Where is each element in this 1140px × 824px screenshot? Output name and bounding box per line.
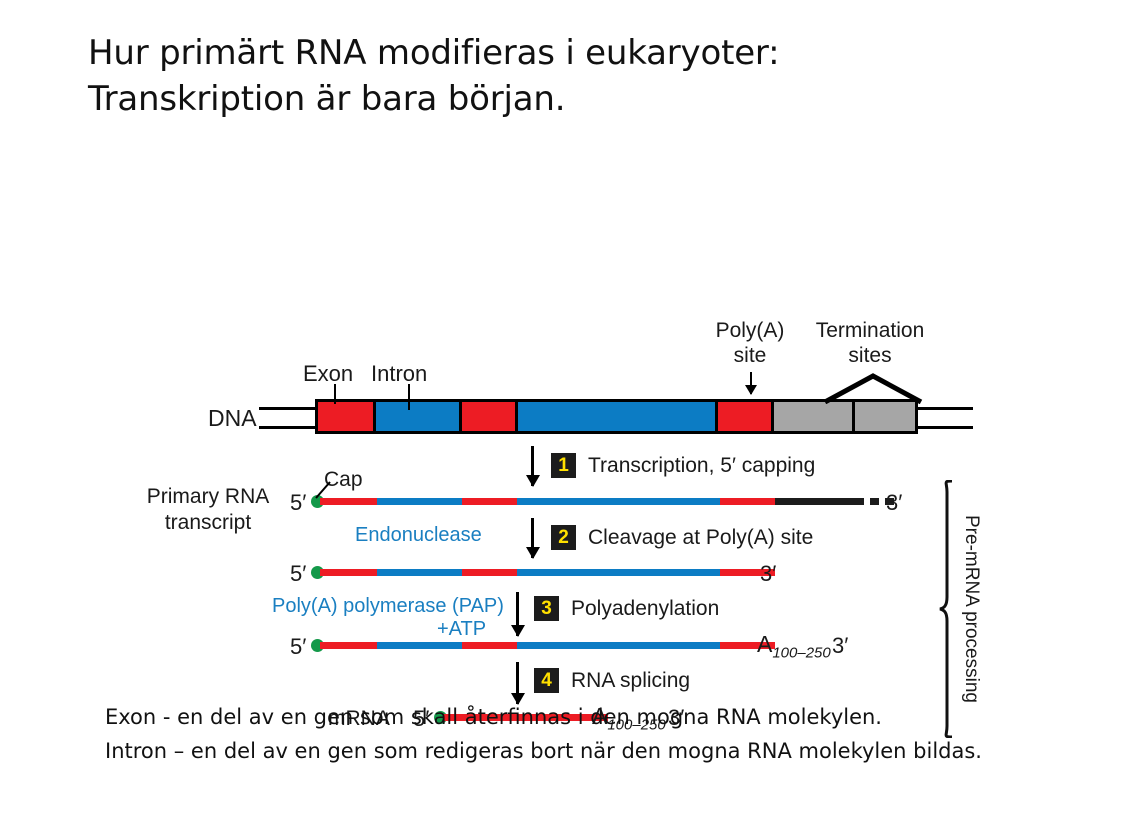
strand-0-segment-exon-5 (720, 498, 775, 505)
termination-label-line-1: Termination (816, 319, 925, 342)
polyadenylated-tail-a: A (757, 631, 772, 657)
dna-segment-termination-7 (852, 402, 915, 431)
polya-site-label: Poly(A) site (700, 318, 800, 368)
strand-0-segment-intron-2 (377, 498, 462, 505)
intron-leader-line (408, 384, 410, 410)
dna-flank-right-bottom (915, 426, 973, 429)
title-line-1: Hur primärt RNA modifieras i eukaryoter: (88, 30, 988, 76)
dna-segment-exon-5 (715, 402, 771, 431)
cleaved-transcript-5prime: 5′ (290, 561, 306, 587)
step-3-badge: 3 (534, 596, 559, 621)
step-2-enzyme-label: Endonuclease (355, 524, 482, 547)
strand-0-segment-exon-3 (462, 498, 517, 505)
transcript-dash (870, 498, 879, 505)
strand-1-segment-intron-2 (377, 569, 462, 576)
polyadenylated-tail-label: A100–250 (757, 631, 831, 662)
primary-transcript-label: Primary RNA transcript (133, 484, 283, 536)
strand-1-segment-exon-1 (320, 569, 377, 576)
dna-label: DNA (208, 405, 257, 432)
polya-site-label-line-2: site (734, 344, 767, 367)
dna-segment-termination-6 (771, 402, 852, 431)
step-3-enzyme-label-line-2: +ATP (437, 618, 486, 641)
termination-roof-icon (822, 372, 924, 404)
primary-transcript-5prime: 5′ (290, 490, 306, 516)
dna-flank-left-top (259, 407, 317, 410)
caption-line-intron: Intron – en del av en gen som redigeras … (105, 734, 1065, 768)
polyadenylated-5prime: 5′ (290, 634, 306, 660)
step-3-enzyme-label-line-1: Poly(A) polymerase (PAP) (272, 595, 504, 618)
strand-1-segment-intron-4 (517, 569, 720, 576)
cap-leader-line (314, 480, 334, 500)
cleaved-transcript-strand (320, 569, 775, 576)
step-1-arrow-icon (531, 446, 534, 486)
intron-label: Intron (371, 361, 427, 387)
caption: Exon - en del av en gen som skall återfi… (105, 700, 1065, 768)
step-2-arrow-icon (531, 518, 534, 558)
title-line-2: Transkription är bara början. (88, 76, 988, 122)
step-1-text: Transcription, 5′ capping (588, 454, 815, 478)
step-2-badge: 2 (551, 525, 576, 550)
dna-segment-exon-3 (459, 402, 515, 431)
cleaved-transcript-3prime: 3′ (760, 561, 776, 587)
strand-0-segment-exon-1 (320, 498, 377, 505)
dna-flank-right-top (915, 407, 973, 410)
primary-transcript-strand (320, 498, 855, 505)
caption-line-exon: Exon - en del av en gen som skall återfi… (105, 700, 1065, 734)
strand-2-segment-exon-1 (320, 642, 377, 649)
dna-gene-bar (315, 399, 918, 434)
termination-sites-label: Termination sites (815, 318, 925, 368)
dna-flank-left-bottom (259, 426, 317, 429)
step-4-arrow-icon (516, 662, 519, 704)
step-2-text: Cleavage at Poly(A) site (588, 526, 813, 550)
transcript-dash (855, 498, 864, 505)
primary-transcript-3prime: 3′ (886, 490, 902, 516)
primary-transcript-label-line-1: Primary RNA (147, 485, 270, 508)
slide: Hur primärt RNA modifieras i eukaryoter:… (0, 0, 1140, 824)
rna-processing-diagram: DNA Exon Intron Poly(A) site Termination… (0, 150, 1140, 620)
step-1-badge: 1 (551, 453, 576, 478)
strand-2-segment-intron-2 (377, 642, 462, 649)
step-4-text: RNA splicing (571, 669, 690, 693)
dna-segment-exon-1 (318, 402, 373, 431)
polyadenylated-3prime: 3′ (832, 633, 848, 659)
polyadenylated-strand (320, 642, 775, 649)
page-title: Hur primärt RNA modifieras i eukaryoter:… (88, 30, 988, 122)
dna-segment-intron-4 (515, 402, 715, 431)
polya-site-label-line-1: Poly(A) (716, 319, 785, 342)
strand-0-segment-intron-4 (517, 498, 720, 505)
termination-label-line-2: sites (848, 344, 891, 367)
strand-2-segment-intron-4 (517, 642, 720, 649)
exon-label: Exon (303, 361, 353, 387)
dna-segment-intron-2 (373, 402, 458, 431)
step-3-text: Polyadenylation (571, 597, 719, 621)
step-4-badge: 4 (534, 668, 559, 693)
polyadenylated-tail-count: 100–250 (772, 645, 830, 662)
primary-transcript-label-line-2: transcript (165, 511, 251, 534)
polya-site-arrow-icon (750, 372, 752, 394)
step-3-arrow-icon (516, 592, 519, 636)
strand-2-segment-exon-3 (462, 642, 517, 649)
exon-leader-line (334, 384, 336, 404)
transcript-dash (840, 498, 849, 505)
strand-1-segment-exon-3 (462, 569, 517, 576)
